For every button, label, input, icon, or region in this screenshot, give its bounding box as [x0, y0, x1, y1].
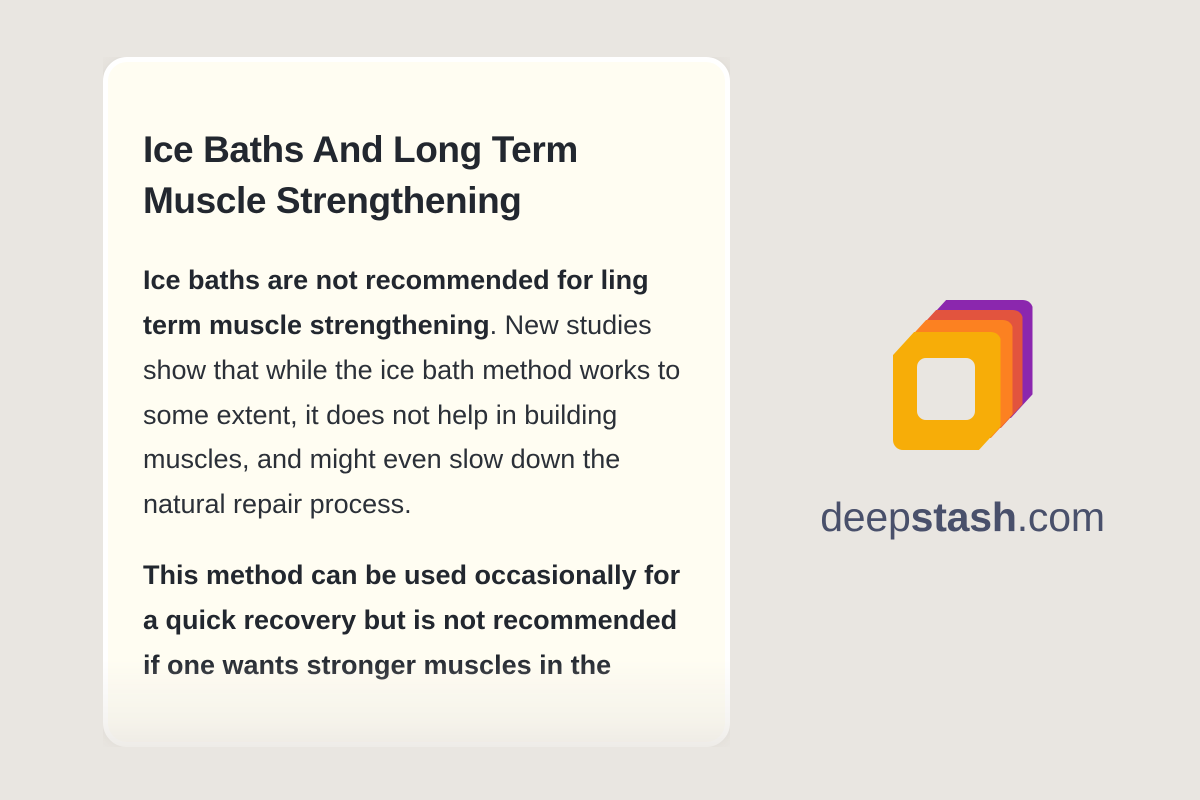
idea-paragraph-2-text: This method can be used occasionally for…	[143, 560, 680, 680]
brand-wordmark: deepstash.com	[790, 494, 1135, 541]
wordmark-deep: deep	[820, 494, 910, 540]
wordmark-tld: .com	[1017, 494, 1105, 540]
stash-card[interactable]: Ice Baths And Long Term Muscle Strengthe…	[103, 57, 730, 747]
page-title: Ice Baths And Long Term Muscle Strengthe…	[143, 124, 663, 226]
brand-block: deepstash.com	[790, 300, 1135, 541]
wordmark-stash: stash	[911, 494, 1017, 540]
idea-paragraph-1: Ice baths are not recommended for ling t…	[143, 258, 689, 527]
deepstash-logo-icon	[893, 300, 1033, 452]
stash-card-content: Ice Baths And Long Term Muscle Strengthe…	[108, 62, 725, 687]
logo-amber-layer-icon	[893, 332, 1001, 450]
stash-card-container: Ice Baths And Long Term Muscle Strengthe…	[103, 57, 730, 747]
logo-center-cutout	[917, 358, 975, 420]
idea-paragraph-2: This method can be used occasionally for…	[143, 553, 689, 687]
idea-paragraph-1-rest: . New studies show that while the ice ba…	[143, 310, 680, 519]
